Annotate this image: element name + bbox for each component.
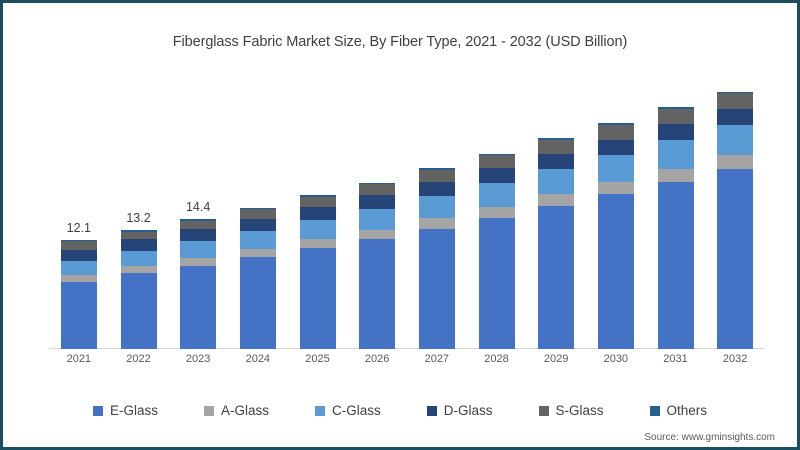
legend-swatch-icon: [427, 406, 437, 416]
bar-segment-e-glass[interactable]: [121, 273, 157, 349]
legend-item-others[interactable]: Others: [650, 403, 708, 418]
bar-group[interactable]: [658, 107, 694, 349]
chart-legend: E-GlassA-GlassC-GlassD-GlassS-GlassOther…: [7, 403, 793, 418]
bar-stack: [598, 123, 634, 349]
bar-segment-s-glass[interactable]: [658, 109, 694, 125]
x-tick-2031: 2031: [646, 353, 706, 365]
bar-group[interactable]: 14.4: [180, 219, 216, 349]
legend-item-s-glass[interactable]: S-Glass: [539, 403, 604, 418]
legend-label: C-Glass: [332, 403, 381, 418]
bar-segment-a-glass[interactable]: [180, 258, 216, 266]
bar-segment-c-glass[interactable]: [180, 241, 216, 258]
plot-area: 12.113.214.4: [49, 79, 765, 349]
bar-segment-c-glass[interactable]: [538, 169, 574, 195]
bar-segment-d-glass[interactable]: [61, 250, 97, 261]
bar-group[interactable]: 13.2: [121, 230, 157, 349]
x-tick-2032: 2032: [705, 353, 765, 365]
legend-swatch-icon: [93, 406, 103, 416]
bar-segment-e-glass[interactable]: [658, 182, 694, 349]
bar-segment-c-glass[interactable]: [717, 125, 753, 156]
bar-segment-s-glass[interactable]: [240, 209, 276, 218]
legend-item-a-glass[interactable]: A-Glass: [204, 403, 269, 418]
bar-segment-c-glass[interactable]: [419, 196, 455, 218]
bar-segment-e-glass[interactable]: [359, 239, 395, 349]
bar-segment-e-glass[interactable]: [717, 169, 753, 349]
bar-segment-s-glass[interactable]: [121, 232, 157, 240]
bar-segment-a-glass[interactable]: [538, 194, 574, 206]
bar-segment-e-glass[interactable]: [598, 194, 634, 349]
bar-segment-a-glass[interactable]: [240, 249, 276, 257]
bar-segment-s-glass[interactable]: [180, 221, 216, 230]
bar-segment-c-glass[interactable]: [598, 155, 634, 182]
bar-stack: [419, 168, 455, 349]
bar-segment-c-glass[interactable]: [359, 209, 395, 230]
legend-label: Others: [667, 403, 708, 418]
bar-group[interactable]: [240, 208, 276, 349]
bar-segment-e-glass[interactable]: [419, 229, 455, 350]
x-tick-2022: 2022: [109, 353, 169, 365]
x-tick-2023: 2023: [168, 353, 228, 365]
bar-segment-a-glass[interactable]: [717, 155, 753, 169]
bar-value-label: 14.4: [186, 200, 210, 214]
bar-segment-d-glass[interactable]: [359, 195, 395, 209]
bar-segment-d-glass[interactable]: [240, 219, 276, 232]
bar-stack: [538, 138, 574, 349]
x-tick-2027: 2027: [407, 353, 467, 365]
x-tick-2021: 2021: [49, 353, 109, 365]
bar-segment-d-glass[interactable]: [479, 168, 515, 182]
bar-segment-a-glass[interactable]: [598, 182, 634, 194]
bar-segment-e-glass[interactable]: [61, 282, 97, 350]
bar-segment-e-glass[interactable]: [300, 248, 336, 349]
bar-stack: 13.2: [121, 230, 157, 349]
bar-segment-a-glass[interactable]: [61, 275, 97, 282]
bar-segment-e-glass[interactable]: [180, 266, 216, 349]
bar-segment-d-glass[interactable]: [300, 207, 336, 220]
bar-segment-a-glass[interactable]: [658, 169, 694, 182]
x-tick-2028: 2028: [467, 353, 527, 365]
legend-label: A-Glass: [221, 403, 269, 418]
x-axis-tick-labels: 2021202220232024202520262027202820292030…: [49, 353, 765, 373]
bar-stack: [658, 107, 694, 349]
x-tick-2030: 2030: [586, 353, 646, 365]
bar-segment-s-glass[interactable]: [479, 155, 515, 168]
bar-segment-s-glass[interactable]: [359, 184, 395, 195]
bar-stack: [479, 154, 515, 349]
bar-segment-e-glass[interactable]: [479, 218, 515, 349]
chart-title: Fiberglass Fabric Market Size, By Fiber …: [7, 34, 793, 50]
source-attribution: Source: www.gminsights.com: [644, 432, 775, 443]
bar-group[interactable]: [359, 183, 395, 350]
bar-segment-s-glass[interactable]: [598, 125, 634, 140]
bar-stack: [717, 92, 753, 349]
bar-segment-d-glass[interactable]: [419, 182, 455, 196]
legend-label: S-Glass: [556, 403, 604, 418]
bar-segment-s-glass[interactable]: [419, 170, 455, 182]
bar-segment-s-glass[interactable]: [61, 241, 97, 249]
bar-stack: [240, 208, 276, 349]
bar-group[interactable]: [538, 138, 574, 349]
bar-segment-c-glass[interactable]: [479, 183, 515, 207]
bar-group[interactable]: [479, 154, 515, 349]
bar-stack: [359, 183, 395, 350]
bar-segment-a-glass[interactable]: [419, 218, 455, 228]
chart-frame: Fiberglass Fabric Market Size, By Fiber …: [0, 0, 800, 450]
legend-swatch-icon: [204, 406, 214, 416]
bar-segment-e-glass[interactable]: [538, 206, 574, 349]
bar-segment-s-glass[interactable]: [717, 93, 753, 108]
legend-label: E-Glass: [110, 403, 158, 418]
chart-canvas: Fiberglass Fabric Market Size, By Fiber …: [6, 6, 794, 444]
bar-segment-c-glass[interactable]: [240, 231, 276, 249]
bar-value-label: 12.1: [67, 221, 91, 235]
legend-label: D-Glass: [444, 403, 493, 418]
bar-stack: 14.4: [180, 219, 216, 349]
x-tick-2026: 2026: [347, 353, 407, 365]
bar-group[interactable]: [598, 123, 634, 349]
bar-segment-d-glass[interactable]: [538, 154, 574, 169]
legend-item-c-glass[interactable]: C-Glass: [315, 403, 381, 418]
bar-group[interactable]: [419, 168, 455, 349]
bar-stack: [300, 195, 336, 349]
bar-segment-a-glass[interactable]: [479, 207, 515, 218]
x-tick-2025: 2025: [288, 353, 348, 365]
bar-stack: 12.1: [61, 240, 97, 349]
bar-segment-a-glass[interactable]: [359, 230, 395, 240]
legend-swatch-icon: [539, 406, 549, 416]
bar-segment-c-glass[interactable]: [658, 140, 694, 169]
legend-swatch-icon: [315, 406, 325, 416]
legend-item-e-glass[interactable]: E-Glass: [93, 403, 158, 418]
bar-segment-c-glass[interactable]: [300, 220, 336, 239]
bar-group[interactable]: 12.1: [61, 240, 97, 349]
bar-segment-a-glass[interactable]: [300, 239, 336, 248]
bar-value-label: 13.2: [126, 211, 150, 225]
bar-segment-d-glass[interactable]: [717, 109, 753, 125]
bar-segment-s-glass[interactable]: [300, 197, 336, 207]
bar-segment-s-glass[interactable]: [538, 140, 574, 154]
bar-segment-e-glass[interactable]: [240, 257, 276, 349]
bar-segment-d-glass[interactable]: [121, 239, 157, 251]
bar-segment-d-glass[interactable]: [180, 229, 216, 241]
bar-group[interactable]: [717, 92, 753, 349]
bar-group[interactable]: [300, 195, 336, 349]
bar-segment-a-glass[interactable]: [121, 266, 157, 273]
bar-segment-d-glass[interactable]: [658, 124, 694, 140]
legend-item-d-glass[interactable]: D-Glass: [427, 403, 493, 418]
bar-segment-c-glass[interactable]: [61, 261, 97, 275]
bar-segment-c-glass[interactable]: [121, 251, 157, 266]
legend-swatch-icon: [650, 406, 660, 416]
x-tick-2024: 2024: [228, 353, 288, 365]
bar-segment-d-glass[interactable]: [598, 140, 634, 155]
x-tick-2029: 2029: [526, 353, 586, 365]
